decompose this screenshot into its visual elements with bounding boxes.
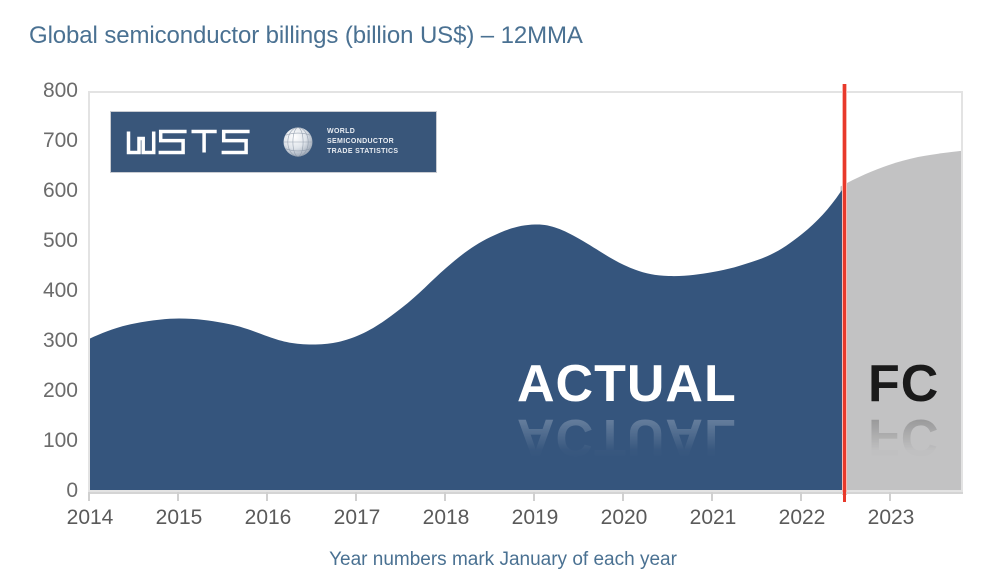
x-tick-2020	[622, 492, 624, 501]
x-tick-2022	[800, 492, 802, 501]
x-label-2021: 2021	[690, 506, 737, 530]
wsts-line-2: SEMICONDUCTOR	[327, 137, 398, 147]
wsts-line-3: TRADE STATISTICS	[327, 147, 398, 157]
x-label-2014: 2014	[67, 506, 114, 530]
wsts-logo: WORLD SEMICONDUCTOR TRADE STATISTICS	[110, 111, 437, 173]
x-label-2019: 2019	[512, 506, 559, 530]
y-tick-500: 500	[43, 230, 78, 251]
x-tick-2015	[177, 492, 179, 501]
x-tick-2016	[266, 492, 268, 501]
y-tick-700: 700	[43, 130, 78, 151]
forecast-band-reflection: FC	[868, 411, 939, 463]
forecast-band-label: FC FC	[868, 358, 939, 463]
y-tick-600: 600	[43, 180, 78, 201]
x-tick-2023	[889, 492, 891, 501]
x-tick-2019	[533, 492, 535, 501]
x-label-2016: 2016	[245, 506, 292, 530]
x-tick-2018	[444, 492, 446, 501]
y-axis: 800 700 600 500 400 300 200 100 0	[18, 80, 78, 504]
actual-band-reflection: ACTUAL	[517, 411, 737, 463]
x-label-2020: 2020	[601, 506, 648, 530]
y-tick-300: 300	[43, 330, 78, 351]
actual-band-text: ACTUAL	[517, 355, 737, 413]
y-tick-100: 100	[43, 430, 78, 451]
x-label-2017: 2017	[334, 506, 381, 530]
x-label-2022: 2022	[779, 506, 826, 530]
page-title: Global semiconductor billings (billion U…	[29, 22, 583, 50]
x-tick-2017	[355, 492, 357, 501]
y-tick-400: 400	[43, 280, 78, 301]
semiconductor-billings-chart: Global semiconductor billings (billion U…	[0, 0, 1006, 584]
wsts-logo-text: WORLD SEMICONDUCTOR TRADE STATISTICS	[327, 127, 398, 157]
forecast-band-text: FC	[868, 355, 939, 413]
wsts-line-1: WORLD	[327, 127, 398, 137]
actual-band-label: ACTUAL ACTUAL	[517, 358, 737, 463]
x-axis-line	[88, 492, 963, 494]
x-tick-2014	[88, 492, 90, 501]
x-label-2015: 2015	[156, 506, 203, 530]
chart-footnote: Year numbers mark January of each year	[0, 549, 1006, 571]
x-label-2023: 2023	[868, 506, 915, 530]
forecast-divider-line	[842, 84, 847, 495]
y-tick-200: 200	[43, 380, 78, 401]
plot-area: ACTUAL ACTUAL FC FC	[88, 91, 963, 492]
x-label-2018: 2018	[423, 506, 470, 530]
y-tick-800: 800	[43, 80, 78, 101]
y-tick-0: 0	[66, 480, 78, 501]
wsts-wordmark-icon	[125, 127, 265, 157]
x-tick-2021	[711, 492, 713, 501]
globe-icon	[281, 125, 315, 159]
x-tick-forecast-start	[843, 492, 846, 502]
